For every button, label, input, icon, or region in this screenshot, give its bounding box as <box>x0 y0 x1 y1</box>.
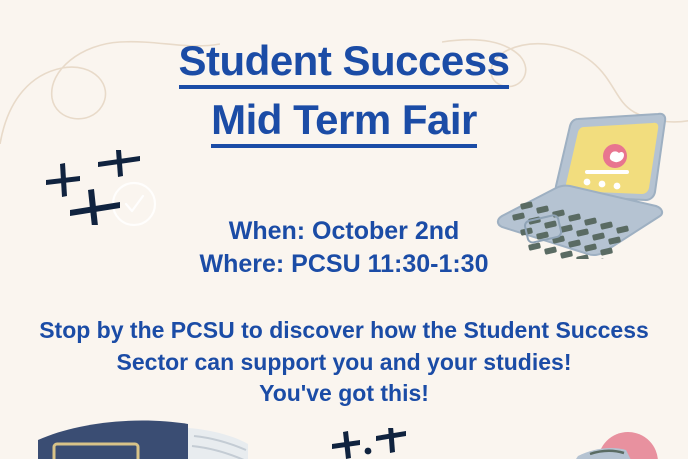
sparkle-plus-group-top-left-icon <box>36 150 156 225</box>
event-where-line: Where: PCSU 11:30-1:30 <box>0 248 688 281</box>
event-when-line: When: October 2nd <box>0 215 688 248</box>
body-line-3: You've got this! <box>0 378 688 410</box>
corner-circle-object-icon <box>556 420 688 459</box>
poster-canvas: Student Success Mid Term Fair When: Octo… <box>0 0 688 459</box>
book-illustration-icon <box>38 414 248 459</box>
body-line-1: Stop by the PCSU to discover how the Stu… <box>0 315 688 347</box>
body-line-2: Sector can support you and your studies! <box>0 347 688 379</box>
title-line-1: Student Success <box>179 40 510 89</box>
body-paragraph: Stop by the PCSU to discover how the Stu… <box>0 315 688 410</box>
title-line-2: Mid Term Fair <box>211 99 477 148</box>
page-title: Student Success Mid Term Fair <box>0 40 688 148</box>
sparkle-plus-group-bottom-icon <box>330 428 410 459</box>
event-details: When: October 2nd Where: PCSU 11:30-1:30 <box>0 215 688 282</box>
